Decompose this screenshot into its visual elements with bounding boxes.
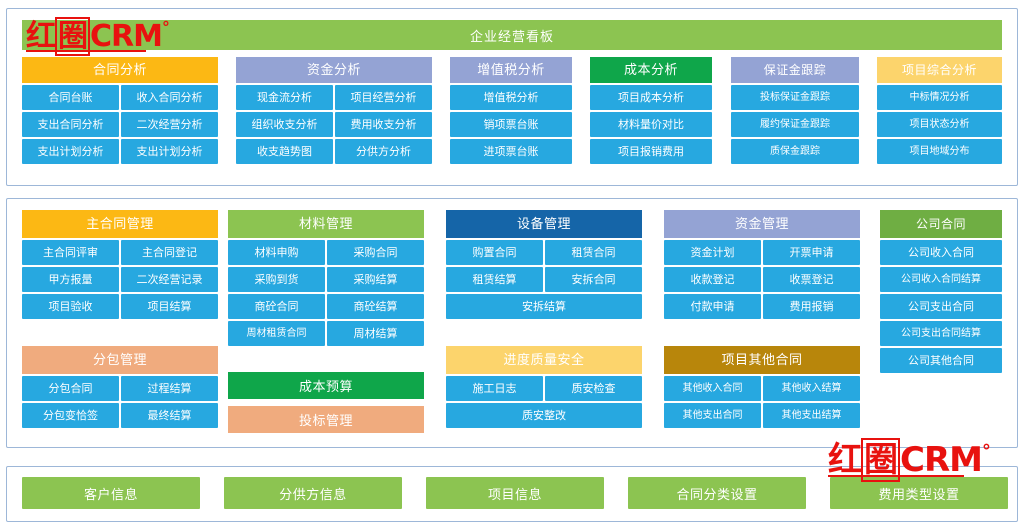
card-header: 资金分析	[236, 57, 432, 83]
card-equipment-management: 设备管理 购置合同 租赁合同 租赁结算 安拆合同 安拆结算	[446, 210, 642, 319]
card-material-management: 材料管理 材料申购 采购合同 采购到货 采购结算 商砼合同 商砼结算 周材租赁合…	[228, 210, 424, 346]
menu-item[interactable]: 材料申购	[228, 240, 325, 265]
enterprise-dashboard-banner: 企业经营看板	[22, 20, 1002, 50]
menu-item[interactable]: 安拆合同	[545, 267, 642, 292]
card-title: 资金分析	[307, 64, 361, 77]
card-title: 项目综合分析	[902, 64, 977, 76]
card-title: 主合同管理	[86, 218, 154, 231]
card-title: 设备管理	[517, 218, 571, 231]
menu-item[interactable]: 公司支出合同结算	[880, 321, 1002, 346]
card-items: 中标情况分析 项目状态分析 项目地域分布	[877, 85, 1002, 164]
menu-item[interactable]: 主合同评审	[22, 240, 119, 265]
menu-item[interactable]: 分供方分析	[335, 139, 432, 164]
card-title: 增值税分析	[477, 64, 545, 77]
menu-item[interactable]: 最终结算	[121, 403, 218, 428]
menu-item[interactable]: 主合同登记	[121, 240, 218, 265]
card-fund-management: 资金管理 资金计划 开票申请 收款登记 收票登记 付款申请 费用报销	[664, 210, 860, 319]
card-contract-analysis: 合同分析 合同台账 收入合同分析 支出合同分析 二次经营分析 支出计划分析 支出…	[22, 57, 218, 164]
menu-item[interactable]: 分包变恰签	[22, 403, 119, 428]
menu-item[interactable]: 其他支出结算	[763, 403, 860, 428]
bottom-button-contract-category-settings[interactable]: 合同分类设置	[628, 477, 806, 509]
banner-title: 企业经营看板	[470, 26, 554, 45]
card-project-overview-analysis: 项目综合分析 中标情况分析 项目状态分析 项目地域分布	[877, 57, 1002, 164]
menu-item[interactable]: 甲方报量	[22, 267, 119, 292]
menu-item[interactable]: 材料量价对比	[590, 112, 712, 137]
menu-item[interactable]: 质保金跟踪	[731, 139, 859, 164]
card-items: 其他收入合同 其他收入结算 其他支出合同 其他支出结算	[664, 376, 860, 428]
menu-item[interactable]: 质安整改	[446, 403, 642, 428]
menu-item[interactable]: 投标保证金跟踪	[731, 85, 859, 110]
menu-item[interactable]: 公司支出合同	[880, 294, 1002, 319]
card-items: 分包合同 过程结算 分包变恰签 最终结算	[22, 376, 218, 428]
card-header: 公司合同	[880, 210, 1002, 238]
card-cost-analysis: 成本分析 项目成本分析 材料量价对比 项目报销费用	[590, 57, 712, 164]
menu-item[interactable]: 采购到货	[228, 267, 325, 292]
menu-item[interactable]: 过程结算	[121, 376, 218, 401]
menu-item[interactable]: 费用收支分析	[335, 112, 432, 137]
menu-item[interactable]: 租赁结算	[446, 267, 543, 292]
menu-item[interactable]: 支出合同分析	[22, 112, 119, 137]
card-items: 项目成本分析 材料量价对比 项目报销费用	[590, 85, 712, 164]
menu-item[interactable]: 费用报销	[763, 294, 860, 319]
card-items: 公司收入合同 公司收入合同结算 公司支出合同 公司支出合同结算 公司其他合同	[880, 240, 1002, 373]
card-header: 项目综合分析	[877, 57, 1002, 83]
menu-item[interactable]: 收入合同分析	[121, 85, 218, 110]
card-title: 公司合同	[916, 218, 966, 230]
menu-item[interactable]: 公司收入合同结算	[880, 267, 1002, 292]
menu-item[interactable]: 项目地域分布	[877, 139, 1002, 164]
menu-item[interactable]: 支出计划分析	[121, 139, 218, 164]
card-items: 主合同评审 主合同登记 甲方报量 二次经营记录 项目验收 项目结算	[22, 240, 218, 319]
dashboard-root: 企业经营看板 合同分析 合同台账 收入合同分析 支出合同分析 二次经营分析 支出…	[0, 0, 1024, 529]
card-header: 合同分析	[22, 57, 218, 83]
card-progress-quality-safety: 进度质量安全 施工日志 质安检查 质安整改	[446, 346, 642, 428]
card-title: 材料管理	[299, 218, 353, 231]
card-title[interactable]: 投标管理	[228, 406, 424, 433]
card-items: 增值税分析 销项票台账 进项票台账	[450, 85, 572, 164]
card-items: 材料申购 采购合同 采购到货 采购结算 商砼合同 商砼结算 周材租赁合同 周材结…	[228, 240, 424, 346]
bottom-button-project-info[interactable]: 项目信息	[426, 477, 604, 509]
card-header: 资金管理	[664, 210, 860, 238]
menu-item[interactable]: 项目报销费用	[590, 139, 712, 164]
menu-item[interactable]: 安拆结算	[446, 294, 642, 319]
card-header: 成本分析	[590, 57, 712, 83]
menu-item[interactable]: 进项票台账	[450, 139, 572, 164]
menu-item[interactable]: 分包合同	[22, 376, 119, 401]
menu-item[interactable]: 项目结算	[121, 294, 218, 319]
card-cost-budget: 成本预算	[228, 372, 424, 399]
card-items: 施工日志 质安检查 质安整改	[446, 376, 642, 428]
menu-item[interactable]: 公司收入合同	[880, 240, 1002, 265]
card-main-contract-management: 主合同管理 主合同评审 主合同登记 甲方报量 二次经营记录 项目验收 项目结算	[22, 210, 218, 319]
card-header: 分包管理	[22, 346, 218, 374]
menu-item[interactable]: 其他支出合同	[664, 403, 761, 428]
card-header: 材料管理	[228, 210, 424, 238]
menu-item[interactable]: 增值税分析	[450, 85, 572, 110]
card-title: 分包管理	[93, 354, 147, 367]
card-subcontract-management: 分包管理 分包合同 过程结算 分包变恰签 最终结算	[22, 346, 218, 428]
card-header: 增值税分析	[450, 57, 572, 83]
menu-item[interactable]: 组织收支分析	[236, 112, 333, 137]
menu-item[interactable]: 二次经营分析	[121, 112, 218, 137]
menu-item[interactable]: 租赁合同	[545, 240, 642, 265]
menu-item[interactable]: 履约保证金跟踪	[731, 112, 859, 137]
menu-item[interactable]: 项目状态分析	[877, 112, 1002, 137]
menu-item[interactable]: 资金计划	[664, 240, 761, 265]
menu-item[interactable]: 商砼结算	[327, 294, 424, 319]
menu-item[interactable]: 购置合同	[446, 240, 543, 265]
menu-item[interactable]: 支出计划分析	[22, 139, 119, 164]
card-items: 现金流分析 项目经营分析 组织收支分析 费用收支分析 收支趋势图 分供方分析	[236, 85, 432, 164]
menu-item[interactable]: 销项票台账	[450, 112, 572, 137]
card-items: 合同台账 收入合同分析 支出合同分析 二次经营分析 支出计划分析 支出计划分析	[22, 85, 218, 164]
card-title[interactable]: 成本预算	[228, 372, 424, 399]
card-items: 资金计划 开票申请 收款登记 收票登记 付款申请 费用报销	[664, 240, 860, 319]
menu-item[interactable]: 合同台账	[22, 85, 119, 110]
card-items: 购置合同 租赁合同 租赁结算 安拆合同 安拆结算	[446, 240, 642, 319]
menu-item[interactable]: 开票申请	[763, 240, 860, 265]
menu-item[interactable]: 其他收入结算	[763, 376, 860, 401]
card-project-other-contract: 项目其他合同 其他收入合同 其他收入结算 其他支出合同 其他支出结算	[664, 346, 860, 428]
menu-item[interactable]: 收票登记	[763, 267, 860, 292]
card-fund-analysis: 资金分析 现金流分析 项目经营分析 组织收支分析 费用收支分析 收支趋势图 分供…	[236, 57, 432, 164]
card-title: 进度质量安全	[503, 354, 584, 367]
card-header: 设备管理	[446, 210, 642, 238]
card-title: 保证金跟踪	[764, 64, 827, 76]
menu-item[interactable]: 收支趋势图	[236, 139, 333, 164]
bottom-button-expense-type-settings[interactable]: 费用类型设置	[830, 477, 1008, 509]
card-deposit-tracking: 保证金跟踪 投标保证金跟踪 履约保证金跟踪 质保金跟踪	[731, 57, 859, 164]
menu-item[interactable]: 现金流分析	[236, 85, 333, 110]
card-title: 项目其他合同	[721, 354, 802, 367]
menu-item[interactable]: 周材结算	[327, 321, 424, 346]
card-header: 主合同管理	[22, 210, 218, 238]
bottom-button-supplier-info[interactable]: 分供方信息	[224, 477, 402, 509]
card-items: 投标保证金跟踪 履约保证金跟踪 质保金跟踪	[731, 85, 859, 164]
menu-item[interactable]: 二次经营记录	[121, 267, 218, 292]
menu-item[interactable]: 采购结算	[327, 267, 424, 292]
card-title: 合同分析	[93, 64, 147, 77]
menu-item[interactable]: 项目成本分析	[590, 85, 712, 110]
card-vat-analysis: 增值税分析 增值税分析 销项票台账 进项票台账	[450, 57, 572, 164]
menu-item[interactable]: 项目经营分析	[335, 85, 432, 110]
menu-item[interactable]: 收款登记	[664, 267, 761, 292]
menu-item[interactable]: 采购合同	[327, 240, 424, 265]
menu-item[interactable]: 商砼合同	[228, 294, 325, 319]
menu-item[interactable]: 项目验收	[22, 294, 119, 319]
card-company-contract: 公司合同 公司收入合同 公司收入合同结算 公司支出合同 公司支出合同结算 公司其…	[880, 210, 1002, 373]
menu-item[interactable]: 质安检查	[545, 376, 642, 401]
bottom-button-customer-info[interactable]: 客户信息	[22, 477, 200, 509]
menu-item[interactable]: 中标情况分析	[877, 85, 1002, 110]
menu-item[interactable]: 周材租赁合同	[228, 321, 325, 346]
card-bidding-management: 投标管理	[228, 406, 424, 433]
menu-item[interactable]: 施工日志	[446, 376, 543, 401]
card-header: 进度质量安全	[446, 346, 642, 374]
card-title: 资金管理	[735, 218, 789, 231]
menu-item[interactable]: 其他收入合同	[664, 376, 761, 401]
menu-item[interactable]: 付款申请	[664, 294, 761, 319]
card-header: 保证金跟踪	[731, 57, 859, 83]
menu-item[interactable]: 公司其他合同	[880, 348, 1002, 373]
card-title: 成本分析	[624, 64, 678, 77]
card-header: 项目其他合同	[664, 346, 860, 374]
